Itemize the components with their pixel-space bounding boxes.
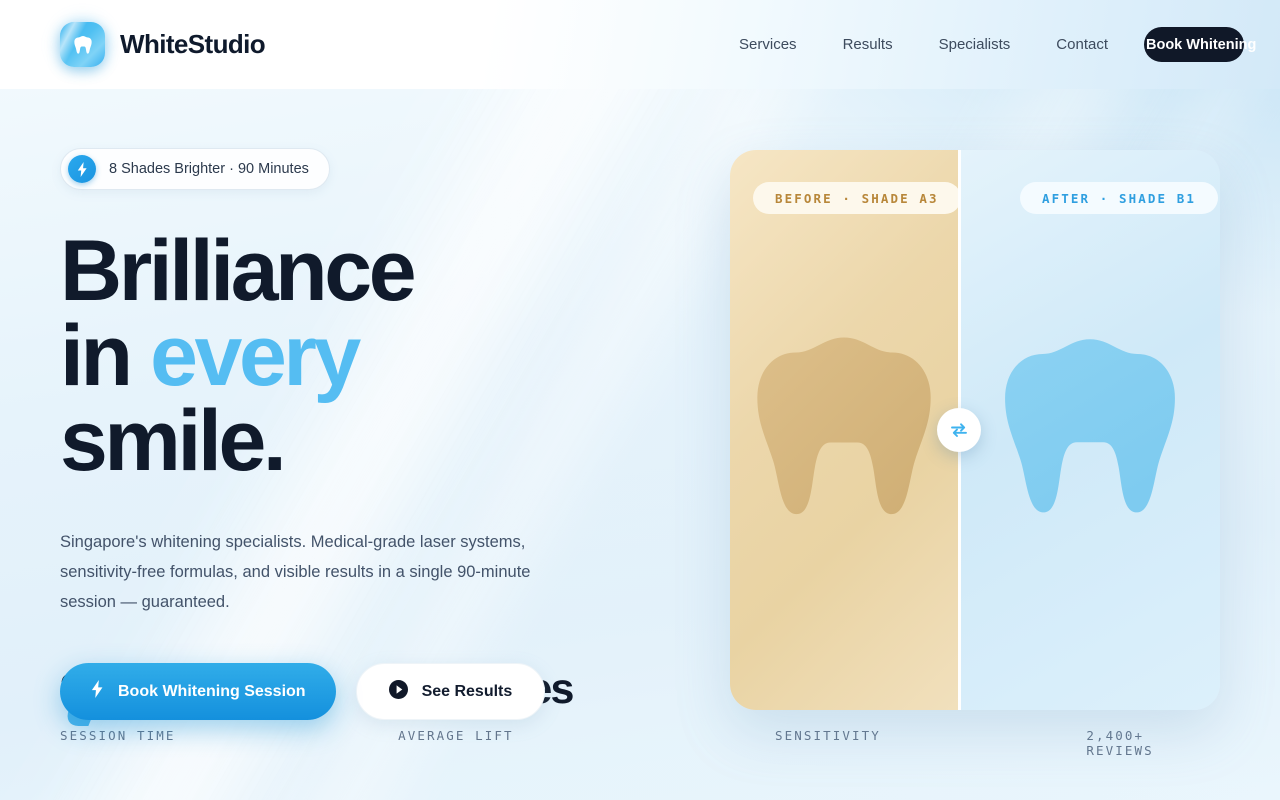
- hero-cta-group: Book Whitening Session See Results: [60, 663, 660, 720]
- main-nav: Services Results Specialists Contact Boo…: [716, 27, 1244, 62]
- stat-label: AVERAGE LIFT: [398, 728, 775, 743]
- headline-line-2: in every: [60, 314, 660, 399]
- see-results-label: See Results: [422, 683, 513, 701]
- book-whitening-session-label: Book Whitening Session: [118, 683, 306, 701]
- swap-arrows-icon[interactable]: [937, 408, 981, 452]
- hero-subtext: Singapore's whitening specialists. Medic…: [60, 527, 588, 617]
- lightning-bolt-icon: [68, 155, 96, 183]
- headline-line-1: Brilliance: [60, 229, 660, 314]
- nav-item-specialists[interactable]: Specialists: [916, 36, 1034, 53]
- brand-name: WhiteStudio: [120, 29, 265, 60]
- after-panel: AFTER · SHADE B1: [960, 150, 1220, 710]
- headline-accent: every: [150, 308, 358, 404]
- nav-item-contact[interactable]: Contact: [1033, 36, 1131, 53]
- before-panel: BEFORE · SHADE A3: [730, 150, 960, 710]
- nav-book-whitening-button[interactable]: Book Whitening: [1144, 27, 1244, 62]
- hero-content: 8 Shades Brighter · 90 Minutes Brillianc…: [60, 148, 660, 720]
- nav-item-services[interactable]: Services: [716, 36, 820, 53]
- nav-item-results[interactable]: Results: [820, 36, 916, 53]
- after-shade-tag: AFTER · SHADE B1: [1020, 182, 1218, 214]
- book-whitening-session-button[interactable]: Book Whitening Session: [60, 663, 336, 720]
- hero-badge: 8 Shades Brighter · 90 Minutes: [60, 148, 330, 190]
- play-circle-icon: [389, 680, 408, 704]
- tooth-icon: [992, 321, 1188, 540]
- before-shade-tag: BEFORE · SHADE A3: [753, 182, 961, 214]
- logo-mark: [60, 22, 105, 67]
- lightning-bolt-icon: [90, 680, 105, 703]
- headline-line-3: smile.: [60, 399, 660, 484]
- nav-cta-label: Book Whitening: [1146, 37, 1256, 53]
- brand-logo[interactable]: WhiteStudio: [60, 22, 265, 67]
- stat-label: 2,400+ REVIEWS: [1086, 728, 1220, 758]
- headline-prefix: in: [60, 308, 150, 404]
- site-header: WhiteStudio Services Results Specialists…: [0, 0, 1280, 89]
- hero-badge-label: 8 Shades Brighter · 90 Minutes: [109, 161, 309, 177]
- tooth-icon: [744, 319, 944, 542]
- stat-label: SESSION TIME: [60, 728, 398, 743]
- tooth-icon: [60, 22, 105, 67]
- see-results-button[interactable]: See Results: [356, 663, 546, 720]
- stat-label: SENSITIVITY: [775, 728, 1086, 743]
- page-title: Brilliance in every smile.: [60, 229, 660, 484]
